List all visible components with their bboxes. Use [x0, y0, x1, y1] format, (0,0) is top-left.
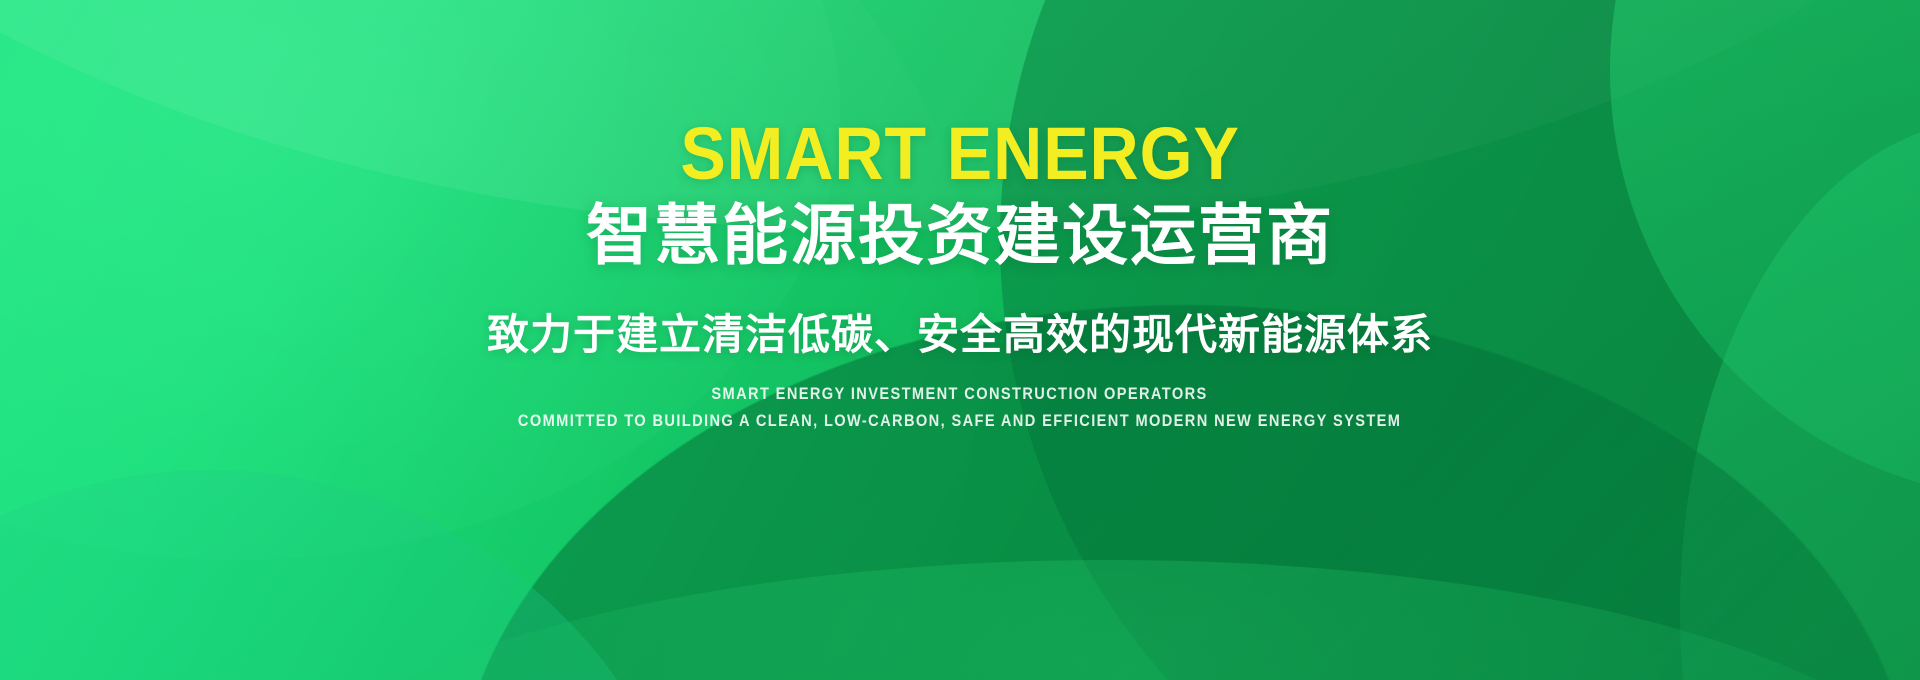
headline-english: SMART ENERGY: [680, 118, 1240, 191]
banner-content: SMART ENERGY 智慧能源投资建设运营商 致力于建立清洁低碳、安全高效的…: [0, 0, 1920, 680]
hero-banner: SMART ENERGY 智慧能源投资建设运营商 致力于建立清洁低碳、安全高效的…: [0, 0, 1920, 680]
caption-english-line-2: COMMITTED TO BUILDING A CLEAN, LOW-CARBO…: [518, 410, 1401, 431]
subheadline-chinese: 致力于建立清洁低碳、安全高效的现代新能源体系: [487, 310, 1433, 360]
caption-english-line-1: SMART ENERGY INVESTMENT CONSTRUCTION OPE…: [712, 383, 1208, 404]
caption-block: SMART ENERGY INVESTMENT CONSTRUCTION OPE…: [446, 383, 1473, 432]
headline-chinese: 智慧能源投资建设运营商: [586, 199, 1334, 273]
